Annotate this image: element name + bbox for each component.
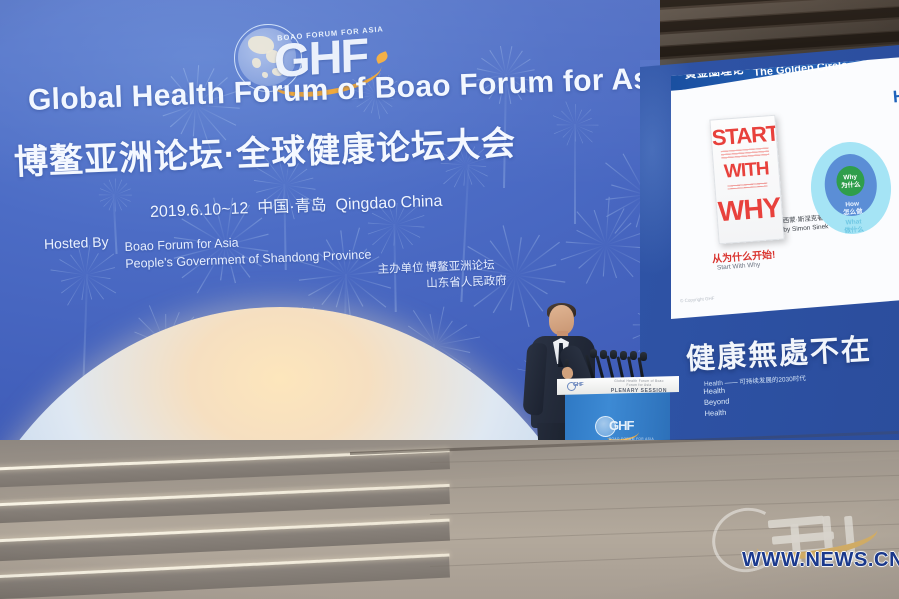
organizer-list-chinese: 主办单位博鳌亚洲论坛 山东省人民政府: [377, 257, 507, 294]
podium-microphone-head: [640, 352, 647, 361]
forum-date: 2019.6.10~12: [150, 200, 249, 221]
wall-subtitle-line: Health: [704, 407, 730, 419]
microphone-cluster: [588, 348, 656, 380]
wall-subtitle-english: Health Beyond Health: [703, 385, 730, 419]
palm-frond-motif: [221, 371, 289, 439]
palm-frond-motif: [391, 301, 479, 389]
organizer-item: 博鳌亚洲论坛: [425, 260, 494, 275]
golden-circle-middle: How 怎么做 Why 为什么: [823, 152, 880, 218]
plant-stem-motif: [343, 274, 347, 386]
podium-microphone-head: [630, 351, 637, 360]
forum-location-en: Qingdao China: [335, 193, 442, 214]
book-author-lines: [727, 182, 767, 189]
palm-frond-motif: [271, 301, 339, 369]
slide-right-letter: H: [892, 87, 899, 108]
gc-why-cn: 为什么: [837, 180, 865, 190]
slide-content: 黄金圈理论 The Golden Circle H START WITH WHY…: [671, 57, 899, 319]
slide-credit: © Copyright GHF: [680, 296, 715, 304]
organizer-label-cn: 主办单位: [377, 260, 426, 278]
podium-nameplate: Global Health Forum of Boao Forum for As…: [609, 379, 669, 394]
news-watermark: WWW.NEWS.CN: [742, 549, 899, 572]
hosted-by-label: Hosted By: [44, 234, 109, 252]
golden-circle-inner: Why 为什么: [835, 165, 865, 197]
stage-step: [0, 555, 450, 599]
golden-circle-outer: What 做什么 How 怎么做 Why 为什么: [808, 139, 895, 237]
book-cover-image: START WITH WHY: [709, 115, 784, 245]
palm-frond-motif: [558, 198, 653, 293]
plant-stem-motif: [433, 344, 437, 418]
podium-plate-mark: GHF: [573, 382, 583, 388]
podium-nameplate-line1: Global Health Forum of Boao Forum for As…: [609, 379, 669, 387]
book-word-why: WHY: [716, 192, 782, 229]
plant-stem-motif: [82, 274, 88, 400]
conference-photo-scene: BOAO FORUM FOR ASIA GHF Global Health Fo…: [0, 0, 899, 599]
golden-circle-how-label: How 怎么做: [826, 199, 879, 218]
book-word-with: WITH: [714, 158, 779, 185]
forum-location-cn: 中国·青岛: [257, 197, 327, 217]
podium-microphone-head: [620, 351, 627, 360]
podium-microphone: [595, 355, 605, 381]
palm-frond-motif: [124, 304, 206, 386]
projection-screen: 黄金圈理论 The Golden Circle H START WITH WHY…: [671, 57, 899, 319]
podium-top-surface: GHF Global Health Forum of Boao Forum fo…: [557, 376, 679, 395]
golden-circle-what-label: What 做什么: [813, 216, 894, 237]
golden-circle-why-label: Why 为什么: [836, 173, 865, 190]
plant-stem-motif: [112, 194, 117, 254]
podium-plate-logo: GHF: [567, 381, 583, 390]
organizer-item: 山东省人民政府: [426, 275, 507, 290]
